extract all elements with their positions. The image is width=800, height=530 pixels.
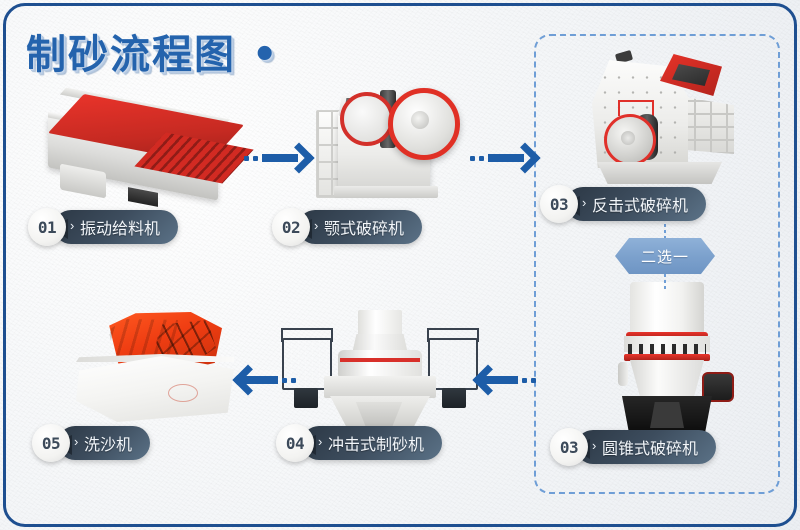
step-name-label: 圆锥式破碎机 (602, 435, 698, 459)
step-label-03-cone[interactable]: 03 › 圆锥式破碎机 (550, 428, 716, 466)
vsi-deck (324, 376, 436, 398)
feeder-foot (128, 187, 158, 207)
machine-cone-crusher (600, 278, 750, 440)
step-name-label: 颚式破碎机 (324, 215, 404, 239)
arrow-head-icon (509, 142, 540, 173)
cone-body (630, 360, 704, 398)
step-number-badge: 03 (550, 428, 588, 466)
arrow-dot (253, 156, 258, 161)
step-label-02[interactable]: 02 › 颚式破碎机 (272, 208, 422, 246)
step-name-label: 冲击式制砂机 (328, 431, 424, 455)
vsi-box-left (294, 388, 318, 408)
step-name-pill[interactable]: › 冲击式制砂机 (302, 426, 442, 460)
step-number-badge: 02 (272, 208, 310, 246)
step-name-pill[interactable]: › 圆锥式破碎机 (576, 430, 716, 464)
flow-arrow-jaw-to-impact (470, 146, 538, 170)
chevron-right-icon: › (318, 434, 322, 449)
arrow-dot (531, 378, 536, 383)
arrow-dot (470, 156, 475, 161)
step-name-pill[interactable]: › 振动给料机 (54, 210, 178, 244)
impact-rotor-wheel (604, 114, 656, 166)
sand-making-flowchart: 制砂流程图 • 二选一 (0, 0, 800, 530)
chevron-right-icon: › (74, 434, 78, 449)
jaw-flywheel-rear (340, 92, 394, 146)
machine-vibrating-feeder (30, 98, 245, 213)
chevron-right-icon: › (592, 438, 596, 453)
cone-red-ring-lower (624, 354, 710, 361)
arrow-head-icon (283, 142, 314, 173)
choice-badge: 二选一 (615, 238, 715, 274)
step-number-badge: 03 (540, 185, 578, 223)
step-name-pill[interactable]: › 颚式破碎机 (298, 210, 422, 244)
chevron-right-icon: › (314, 218, 318, 233)
washer-tank (76, 356, 234, 422)
cone-bolt-row (628, 344, 706, 354)
arrow-dot (522, 378, 527, 383)
flow-arrow-sandmaker-to-washer (228, 368, 296, 392)
step-number-badge: 01 (28, 208, 66, 246)
machine-vsi-sand-maker (280, 310, 480, 435)
washer-logo (168, 384, 198, 402)
vsi-box-right (442, 388, 466, 408)
arrow-dot (244, 156, 249, 161)
step-name-label: 洗沙机 (84, 431, 132, 455)
step-label-04[interactable]: 04 › 冲击式制砂机 (276, 424, 442, 462)
choice-badge-label: 二选一 (641, 246, 689, 267)
step-name-label: 振动给料机 (80, 215, 160, 239)
jaw-flywheel-front (388, 88, 460, 160)
arrow-dot (291, 378, 296, 383)
jaw-base (334, 186, 438, 198)
chevron-right-icon: › (70, 218, 74, 233)
dotted-connector-lower (664, 274, 666, 290)
cone-upper-shell (630, 282, 704, 334)
machine-jaw-crusher (310, 68, 455, 208)
step-number-badge: 05 (32, 424, 70, 462)
step-name-pill[interactable]: › 洗沙机 (58, 426, 150, 460)
page-title: 制砂流程图 • (26, 22, 280, 80)
cone-accumulator (618, 362, 628, 386)
chevron-right-icon: › (582, 195, 586, 210)
arrow-dot (479, 156, 484, 161)
flow-arrow-feeder-to-jaw (244, 146, 312, 170)
step-label-03-impact[interactable]: 03 › 反击式破碎机 (540, 185, 706, 223)
step-label-01[interactable]: 01 › 振动给料机 (28, 208, 178, 246)
arrow-head-icon (472, 364, 503, 395)
step-name-pill[interactable]: › 反击式破碎机 (566, 187, 706, 221)
arrow-dot (282, 378, 287, 383)
step-name-label: 反击式破碎机 (592, 192, 688, 216)
vsi-feed-hopper (358, 310, 402, 336)
vsi-red-band (340, 358, 420, 362)
step-label-05[interactable]: 05 › 洗沙机 (32, 424, 150, 462)
step-number-badge: 04 (276, 424, 314, 462)
impact-legs (592, 162, 722, 184)
arrow-head-icon (232, 364, 263, 395)
machine-impact-crusher (578, 52, 748, 192)
flow-arrow-crusher-to-sandmaker (468, 368, 536, 392)
